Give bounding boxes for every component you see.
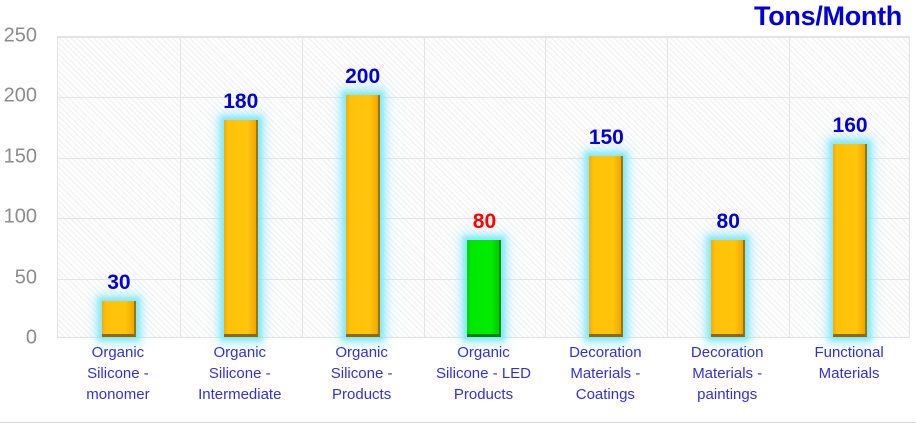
y-axis-tick-label: 200 — [0, 85, 47, 108]
bar-value-label: 80 — [717, 210, 740, 234]
bar-column — [102, 301, 136, 337]
y-axis-tick-label: 150 — [0, 145, 47, 168]
x-axis-category-label-line: Products — [301, 384, 423, 405]
x-axis-category-label-line: Coatings — [544, 384, 666, 405]
x-axis-category-label: FunctionalMaterials — [788, 342, 910, 384]
x-axis-category-label-line: Decoration — [544, 342, 666, 363]
bar-value-label: 180 — [223, 90, 258, 114]
x-axis-category-label: OrganicSilicone -Intermediate — [179, 342, 301, 405]
x-axis-category-label-line: Silicone - — [301, 363, 423, 384]
bar-group: 80 — [667, 37, 789, 337]
bar-column — [833, 144, 867, 337]
bar-column — [224, 120, 258, 337]
x-axis-category-label-line: Materials — [788, 363, 910, 384]
x-axis-category-label-line: monomer — [57, 384, 179, 405]
x-axis-category-label-line: Products — [423, 384, 545, 405]
bar-value-label: 30 — [107, 271, 130, 295]
y-axis-tick-label: 0 — [0, 327, 47, 350]
x-axis-category-label: OrganicSilicone -monomer — [57, 342, 179, 405]
x-axis-category-label-line: Functional — [788, 342, 910, 363]
bar[interactable] — [589, 156, 623, 337]
bar[interactable] — [833, 144, 867, 337]
bar-column — [711, 240, 745, 337]
bar-group: 30 — [58, 37, 180, 337]
x-axis-category-label-line: Silicone - — [179, 363, 301, 384]
y-axis-tick-label: 250 — [0, 25, 47, 48]
y-axis-tick-label: 50 — [0, 266, 47, 289]
bar-chart: Tons/Month 050100150200250 3018020080150… — [0, 0, 916, 423]
bar-value-label: 160 — [833, 114, 868, 138]
x-axis-category-label-line: Organic — [301, 342, 423, 363]
x-axis-category-label-line: Silicone - LED — [423, 363, 545, 384]
x-axis: OrganicSilicone -monomerOrganicSilicone … — [57, 342, 910, 418]
x-axis-category-label-line: Intermediate — [179, 384, 301, 405]
bar-group: 150 — [545, 37, 667, 337]
x-axis-category-label-line: Silicone - — [57, 363, 179, 384]
chart-title: Tons/Month — [754, 1, 902, 32]
x-axis-category-label: DecorationMaterials -Coatings — [544, 342, 666, 405]
bar-column — [346, 95, 380, 337]
bar[interactable] — [346, 95, 380, 337]
bar-group: 200 — [302, 37, 424, 337]
bar[interactable] — [224, 120, 258, 337]
bar-value-label: 200 — [345, 65, 380, 89]
x-axis-category-label-line: Organic — [423, 342, 545, 363]
bar-value-label: 150 — [589, 126, 624, 150]
bar-column — [589, 156, 623, 337]
y-axis-tick-label: 100 — [0, 206, 47, 229]
x-axis-category-label: OrganicSilicone - LEDProducts — [423, 342, 545, 405]
x-axis-category-label-line: Materials - — [666, 363, 788, 384]
x-axis-category-label: OrganicSilicone -Products — [301, 342, 423, 405]
x-axis-category-label: DecorationMaterials -paintings — [666, 342, 788, 405]
bar[interactable] — [711, 240, 745, 337]
x-axis-category-label-line: Organic — [179, 342, 301, 363]
bar-group: 80 — [424, 37, 546, 337]
bar-value-label: 80 — [473, 210, 496, 234]
x-axis-category-label-line: Organic — [57, 342, 179, 363]
x-axis-category-label-line: Decoration — [666, 342, 788, 363]
plot-area: 301802008015080160 — [57, 36, 910, 338]
bar[interactable] — [102, 301, 136, 337]
x-axis-category-label-line: paintings — [666, 384, 788, 405]
bar[interactable] — [467, 240, 501, 337]
bar-column — [467, 240, 501, 337]
bar-group: 160 — [789, 37, 911, 337]
y-axis: 050100150200250 — [0, 36, 47, 338]
x-axis-category-label-line: Materials - — [544, 363, 666, 384]
bar-group: 180 — [180, 37, 302, 337]
